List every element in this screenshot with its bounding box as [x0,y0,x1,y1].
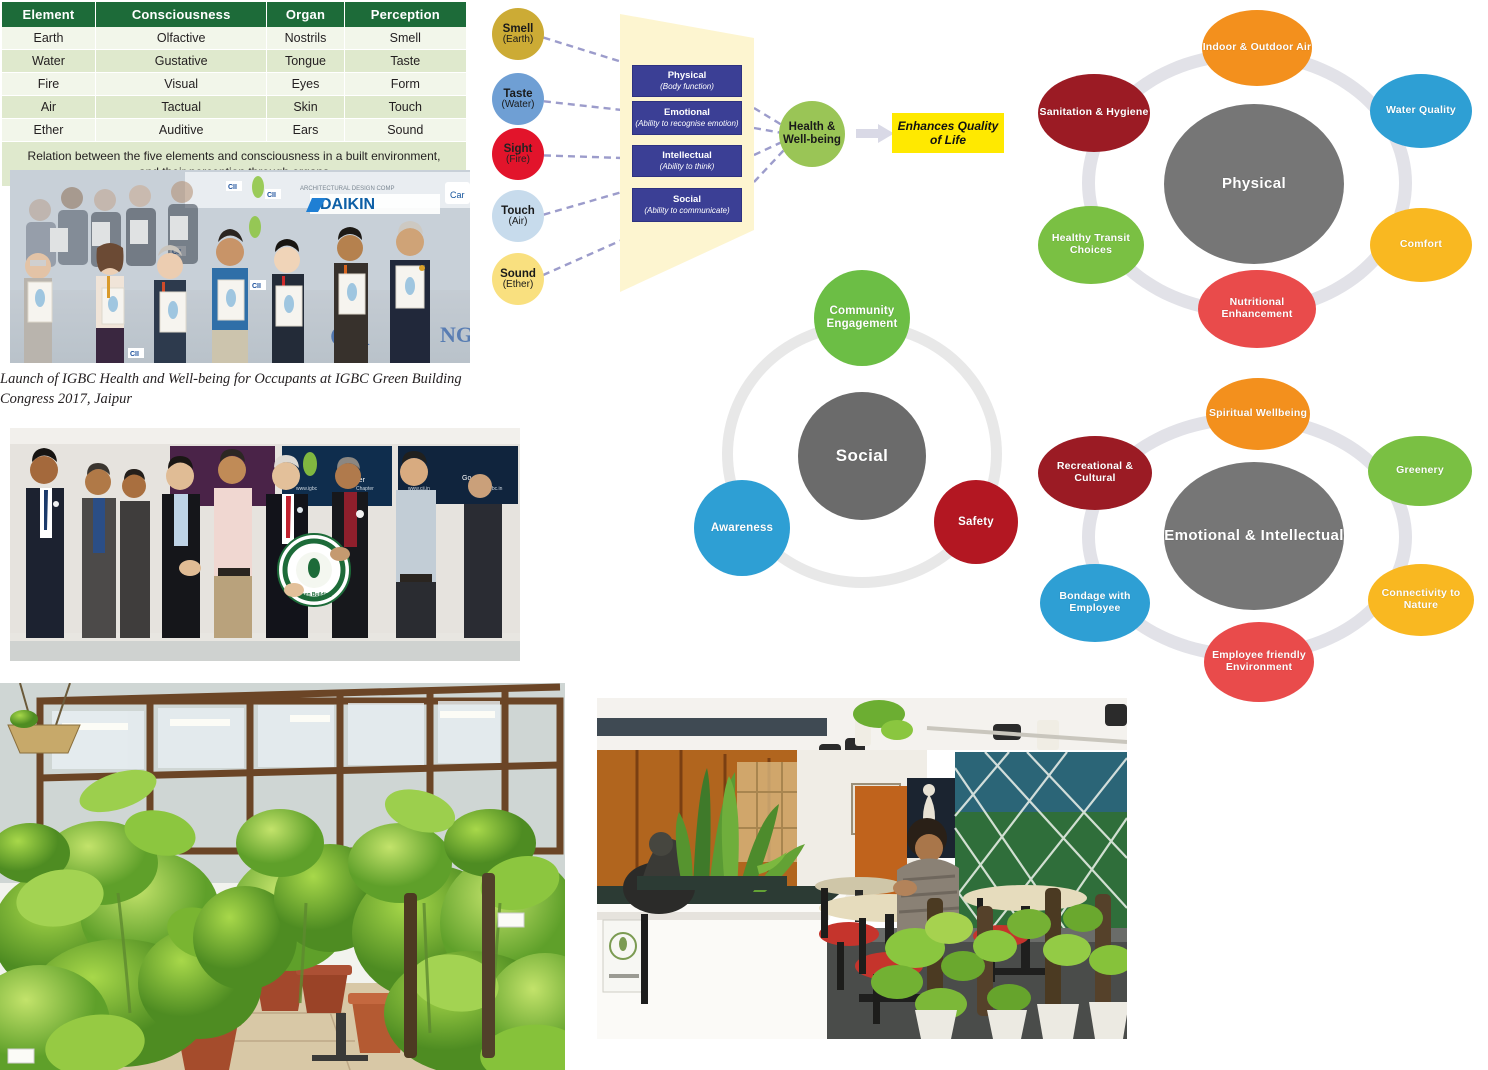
wheel-node-connectivity-to-nature: Connectivity to Nature [1368,564,1474,636]
enhances-quality-label: Enhances Quality of Life [892,119,1004,148]
photo-congress-graphic: ARCHITECTURAL DESIGN COMP DAIKIN Car CII… [10,170,470,363]
cell-element: Water [2,50,95,73]
enhances-quality-of-life-box: Enhances Quality of Life [892,113,1004,153]
column-header-consciousness: Consciousness [95,2,266,27]
wheel-node-employee-friendly-environment: Employee friendly Environment [1204,622,1314,702]
wheel-node-label: Spiritual Wellbeing [1209,408,1307,420]
svg-text:ARCHITECTURAL DESIGN COMP: ARCHITECTURAL DESIGN COMP [300,186,394,192]
sense-circle-smell: Smell (Earth) [492,8,544,60]
svg-text:NG: NG [440,322,470,347]
wheel-node-label: Bondage with Employee [1040,591,1150,615]
cell-organ: Tongue [267,50,344,73]
wheel-node-spiritual-wellbeing: Spiritual Wellbeing [1206,378,1310,450]
wheel-node-label: Greenery [1396,465,1444,477]
wheel-node-water-quality: Water Quality [1370,74,1472,148]
wheel-node-label: Safety [958,516,994,529]
wheel-node-label: Recreational & Cultural [1038,461,1152,485]
svg-text:DAIKIN: DAIKIN [320,196,375,213]
table-row: Water Gustative Tongue Taste [2,50,466,73]
wheel-node-nutritional-enhancement: Nutritional Enhancement [1198,270,1316,348]
dimension-box-intellectual: Intellectual (Ability to think) [632,145,742,177]
cell-organ: Eyes [267,73,344,96]
table-row: Earth Olfactive Nostrils Smell [2,27,466,50]
sense-label: Sound [500,268,536,280]
wheel-node-label: Sanitation & Hygiene [1039,107,1148,119]
cell-consciousness: Tactual [95,96,266,119]
cell-perception: Form [344,73,466,96]
physical-wellbeing-wheel: Physical Indoor & Outdoor Air Water Qual… [1020,8,1480,358]
arrow-to-outcome [856,124,894,143]
wheel-node-label: Connectivity to Nature [1368,588,1474,612]
svg-text:CII: CII [252,283,261,290]
svg-text:CII: CII [267,192,276,199]
sense-element: (Water) [502,100,535,111]
svg-text:Car: Car [450,190,465,200]
photo-cafe-graphic [597,698,1127,1039]
dimension-label: Physical [668,71,707,82]
cell-consciousness: Gustative [95,50,266,73]
photo-indoor-plants-greenhouse [0,683,565,1070]
wheel-node-label: Community Engagement [814,305,910,331]
table-row: Fire Visual Eyes Form [2,73,466,96]
wheel-node-label: Healthy Transit Choices [1038,233,1144,257]
cell-consciousness: Olfactive [95,27,266,50]
health-wellbeing-circle: Health & Well-being [779,101,845,167]
cell-organ: Nostrils [267,27,344,50]
five-elements-table: Element Consciousness Organ Perception E… [2,2,466,187]
column-header-element: Element [2,2,95,27]
cell-element: Earth [2,27,95,50]
wheel-node-greenery: Greenery [1368,436,1472,506]
sense-element: (Earth) [503,35,534,46]
cell-perception: Taste [344,50,466,73]
wheel-node-label: Employee friendly Environment [1204,650,1314,674]
wheel-node-healthy-transit-choices: Healthy Transit Choices [1038,206,1144,284]
cell-perception: Sound [344,119,466,142]
wheel-node-label: Awareness [711,522,773,535]
wheel-node-bondage-with-employee: Bondage with Employee [1040,564,1150,642]
health-wellbeing-label: Health & Well-being [779,121,845,147]
sense-label: Touch [501,205,535,217]
wheel-node-label: Nutritional Enhancement [1198,297,1316,321]
photo-congress-caption: Launch of IGBC Health and Well-being for… [0,370,472,409]
photo-igbc-plaque-handover: www.igbcChapter www.cii.inwww.igbc.in Ch… [10,428,520,661]
cell-element: Air [2,96,95,119]
dimension-sub: (Body function) [660,82,714,91]
emotional-intellectual-wheel: Emotional & Intellectual Spiritual Wellb… [1020,378,1480,708]
wheel-core-social: Social [798,392,926,520]
wheel-node-comfort: Comfort [1370,208,1472,282]
dimension-sub: (Ability to think) [660,162,715,171]
dimension-box-emotional: Emotional (Ability to recognise emotion) [632,101,742,135]
sense-circle-sight: Sight (Fire) [492,128,544,180]
sense-element: (Fire) [506,155,530,166]
social-wellbeing-wheel: Social Community Engagement Safety Aware… [672,262,1052,602]
wheel-node-label: Indoor & Outdoor Air [1203,42,1312,54]
sense-label: Taste [503,88,532,100]
dimension-label: Intellectual [662,151,712,162]
svg-text:Chapter: Chapter [356,486,374,492]
table-row: Ether Auditive Ears Sound [2,119,466,142]
wheel-node-awareness: Awareness [694,480,790,576]
wheel-core-physical: Physical [1164,104,1344,264]
wheel-node-indoor-outdoor-air: Indoor & Outdoor Air [1202,10,1312,86]
svg-text:CII: CII [228,184,237,191]
table-row: Air Tactual Skin Touch [2,96,466,119]
cell-element: Ether [2,119,95,142]
wheel-core-label: Emotional & Intellectual [1164,528,1344,545]
wheel-node-label: Comfort [1400,239,1442,251]
sense-circle-taste: Taste (Water) [492,73,544,125]
dimension-label: Emotional [664,108,710,119]
cell-organ: Skin [267,96,344,119]
cell-consciousness: Auditive [95,119,266,142]
wheel-core-emotional-intellectual: Emotional & Intellectual [1164,462,1344,610]
wheel-node-safety: Safety [934,480,1018,564]
sense-element: (Air) [509,217,528,228]
cell-consciousness: Visual [95,73,266,96]
wheel-node-community-engagement: Community Engagement [814,270,910,366]
sense-element: (Ether) [503,280,534,291]
sense-label: Sight [504,143,533,155]
photo-greenhouse-graphic [0,683,565,1070]
cell-element: Fire [2,73,95,96]
svg-text:www.igbc: www.igbc [296,486,318,492]
dimension-box-social: Social (Ability to communicate) [632,188,742,222]
cell-perception: Touch [344,96,466,119]
sense-circle-sound: Sound (Ether) [492,253,544,305]
photo-igbc-congress-launch: ARCHITECTURAL DESIGN COMP DAIKIN Car CII… [10,170,470,363]
dimension-sub: (Ability to communicate) [644,206,729,215]
wheel-node-recreational-cultural: Recreational & Cultural [1038,436,1152,510]
sense-label: Smell [503,23,534,35]
wheel-node-sanitation-hygiene: Sanitation & Hygiene [1038,74,1150,152]
sense-circle-touch: Touch (Air) [492,190,544,242]
column-header-organ: Organ [267,2,344,27]
wheel-node-label: Water Quality [1386,105,1456,117]
wheel-core-label: Social [836,446,888,465]
cell-organ: Ears [267,119,344,142]
dimension-sub: (Ability to recognise emotion) [635,119,738,128]
photo-plaque-graphic: www.igbcChapter www.cii.inwww.igbc.in Ch… [10,428,520,661]
photo-office-cafeteria [597,698,1127,1039]
column-header-perception: Perception [344,2,466,27]
dimension-box-physical: Physical (Body function) [632,65,742,97]
wheel-core-label: Physical [1222,176,1286,193]
dimension-label: Social [673,195,701,206]
cell-perception: Smell [344,27,466,50]
svg-text:CII: CII [130,351,139,358]
table-header-row: Element Consciousness Organ Perception [2,2,466,27]
